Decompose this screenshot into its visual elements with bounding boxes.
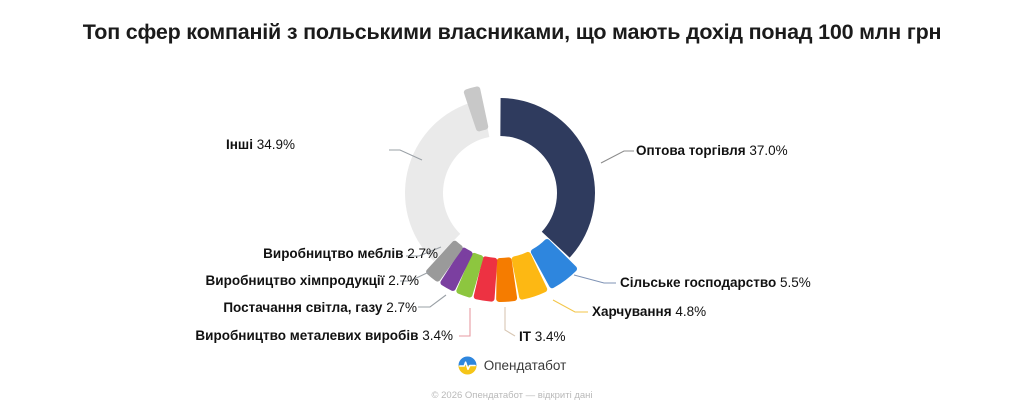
slice-label-metal-pct: 3.4% bbox=[422, 328, 453, 343]
slice-label-it-name: IT bbox=[519, 329, 531, 344]
slice-label-wholesale-pct: 37.0% bbox=[749, 143, 787, 158]
slice-label-food: Харчування 4.8% bbox=[592, 305, 706, 319]
slice-label-furniture-name: Виробництво меблів bbox=[263, 246, 403, 261]
slice-label-agriculture-pct: 5.5% bbox=[780, 275, 811, 290]
slice-label-furniture-pct: 2.7% bbox=[407, 246, 438, 261]
donut-slices bbox=[405, 89, 595, 298]
donut-slice bbox=[499, 260, 514, 299]
slice-label-metal: Виробництво металевих виробів 3.4% bbox=[195, 329, 453, 343]
slice-label-agriculture-name: Сільське господарство bbox=[620, 275, 776, 290]
slice-label-chemicals: Виробництво хімпродукції 2.7% bbox=[206, 274, 419, 288]
brand-footer: Опендатабот bbox=[0, 356, 1024, 375]
leader-line bbox=[505, 307, 515, 336]
slice-label-other: Інші 34.9% bbox=[226, 138, 295, 152]
brand-name: Опендатабот bbox=[484, 358, 567, 373]
slice-label-wholesale-name: Оптова торгівля bbox=[636, 143, 746, 158]
slice-label-chemicals-name: Виробництво хімпродукції bbox=[206, 273, 385, 288]
slice-label-other-pct: 34.9% bbox=[257, 137, 295, 152]
opendatabot-logo-icon bbox=[458, 356, 477, 375]
slice-label-energy: Постачання світла, газу 2.7% bbox=[223, 301, 417, 315]
slice-label-other-name: Інші bbox=[226, 137, 253, 152]
leader-line bbox=[574, 275, 616, 283]
slice-label-it-pct: 3.4% bbox=[535, 329, 566, 344]
slice-label-agriculture: Сільське господарство 5.5% bbox=[620, 276, 811, 290]
leader-line bbox=[418, 295, 446, 307]
slice-label-furniture: Виробництво меблів 2.7% bbox=[263, 247, 438, 261]
donut-slice bbox=[500, 98, 595, 258]
slice-label-it: IT 3.4% bbox=[519, 330, 566, 344]
leader-line bbox=[459, 308, 470, 336]
copyright-text: © 2026 Опендатабот — відкриті дані bbox=[0, 390, 1024, 401]
slice-label-chemicals-pct: 2.7% bbox=[388, 273, 419, 288]
slice-label-wholesale: Оптова торгівля 37.0% bbox=[636, 144, 788, 158]
slice-label-food-pct: 4.8% bbox=[675, 304, 706, 319]
slice-label-metal-name: Виробництво металевих виробів bbox=[195, 328, 418, 343]
slice-label-food-name: Харчування bbox=[592, 304, 672, 319]
chart-page: Топ сфер компаній з польськими власникам… bbox=[0, 0, 1024, 418]
leader-line bbox=[601, 151, 634, 163]
slice-label-energy-name: Постачання світла, газу bbox=[223, 300, 382, 315]
leader-line bbox=[553, 300, 588, 312]
slice-label-energy-pct: 2.7% bbox=[386, 300, 417, 315]
